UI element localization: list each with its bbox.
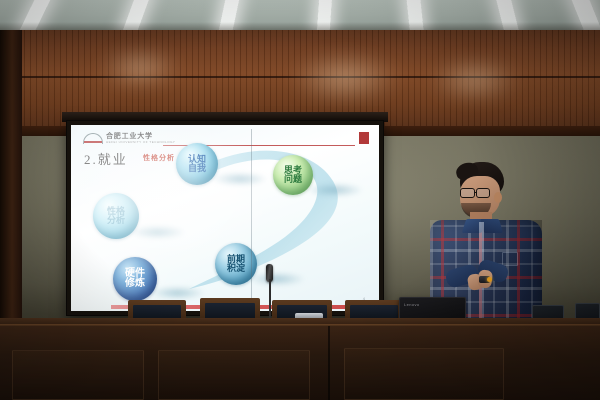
laptop-brand-label: Lenovo — [404, 302, 420, 307]
bubble-label-line2: 积淀 — [227, 264, 245, 273]
podium-panel — [344, 348, 504, 400]
podium-seam — [328, 326, 330, 400]
glasses-bridge — [474, 192, 477, 193]
ear — [494, 192, 502, 203]
screen-panel-seam — [251, 129, 252, 307]
bubble-cognition: 认知 自我 — [176, 143, 218, 185]
bubble-hardware: 硬件 修炼 — [113, 257, 157, 301]
podium-panel — [158, 350, 310, 400]
bubble-thinking: 思考 问题 — [273, 155, 313, 195]
wall-column — [0, 30, 22, 330]
bubble-label-line2: 修炼 — [125, 279, 145, 289]
bubble-self-analysis: 性格 分析 — [93, 193, 139, 239]
bubble-shadow — [211, 172, 267, 186]
bubble-label-line2: 问题 — [284, 175, 302, 184]
bubble-shadow — [149, 286, 205, 300]
shirt-pocket — [502, 252, 518, 266]
projection-screen: 合肥工业大学 HEFEI UNIVERSITY OF TECHNOLOGY 2.… — [66, 120, 384, 316]
bubble-shadow — [249, 272, 305, 286]
bubble-label-line2: 自我 — [188, 164, 206, 173]
glasses-icon — [460, 188, 475, 198]
lecture-hall-photo: 合肥工业大学 HEFEI UNIVERSITY OF TECHNOLOGY 2.… — [0, 0, 600, 400]
wall-glare — [290, 52, 400, 104]
wall-glare — [430, 58, 520, 102]
glasses-icon — [476, 188, 490, 198]
wall-glare — [100, 48, 180, 88]
bubble-shadow — [307, 183, 363, 197]
presentation-slide: 合肥工业大学 HEFEI UNIVERSITY OF TECHNOLOGY 2.… — [71, 125, 379, 311]
bubble-label-line2: 分析 — [107, 216, 125, 225]
bubble-shadow — [129, 225, 185, 239]
remote-led-icon — [487, 277, 492, 282]
podium-panel — [12, 350, 144, 400]
